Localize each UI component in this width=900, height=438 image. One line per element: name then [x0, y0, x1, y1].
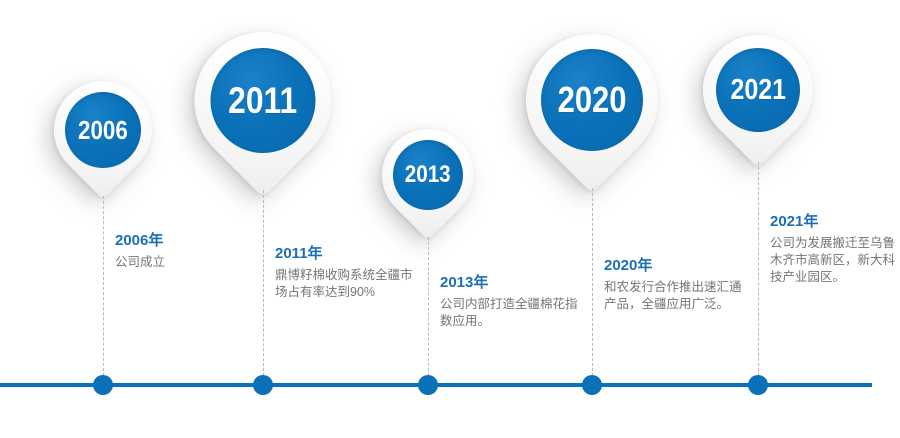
- timeline-pin-2020[interactable]: 2020: [526, 34, 658, 206]
- pin-year-badge: 2006: [65, 92, 141, 168]
- pin-year-label: 2006: [78, 117, 128, 143]
- timeline-entry-2013: 2013年公司内部打造全疆棉花指数应用。: [440, 273, 588, 330]
- pin-connector-line: [592, 188, 593, 376]
- entry-title: 2021年: [770, 212, 898, 232]
- entry-description: 和农发行合作推出速汇通产品，全疆应用广泛。: [604, 279, 752, 313]
- timeline-pin-2021[interactable]: 2021: [703, 35, 813, 178]
- pin-connector-line: [263, 190, 264, 376]
- axis-dot-2021[interactable]: [748, 375, 768, 395]
- entry-description: 公司为发展搬迁至乌鲁木齐市高新区，新大科技产业园区。: [770, 235, 898, 286]
- pin-connector-line: [103, 196, 104, 376]
- pin-connector-line: [758, 162, 759, 376]
- axis-dot-2011[interactable]: [253, 375, 273, 395]
- entry-description: 公司成立: [115, 254, 265, 271]
- timeline-pin-2006[interactable]: 2006: [54, 81, 152, 208]
- axis-dot-2020[interactable]: [582, 375, 602, 395]
- axis-dot-2013[interactable]: [418, 375, 438, 395]
- pin-year-badge: 2013: [393, 140, 463, 210]
- timeline-entry-2021: 2021年公司为发展搬迁至乌鲁木齐市高新区，新大科技产业园区。: [770, 212, 898, 286]
- pin-year-badge: 2020: [541, 49, 643, 151]
- axis-dot-2006[interactable]: [93, 375, 113, 395]
- pin-year-badge: 2021: [716, 48, 800, 132]
- entry-description: 鼎博籽棉收购系统全疆市场占有率达到90%: [275, 267, 423, 301]
- entry-title: 2020年: [604, 256, 752, 276]
- pin-year-label: 2021: [730, 76, 785, 105]
- entry-title: 2011年: [275, 244, 423, 264]
- pin-shape: 2020: [526, 34, 658, 206]
- pin-connector-line: [428, 237, 429, 376]
- timeline-entry-2006: 2006年公司成立: [115, 231, 265, 271]
- entry-description: 公司内部打造全疆棉花指数应用。: [440, 296, 588, 330]
- entry-title: 2006年: [115, 231, 265, 251]
- pin-year-label: 2011: [228, 82, 297, 119]
- pin-year-label: 2020: [558, 82, 627, 118]
- timeline-entry-2020: 2020年和农发行合作推出速汇通产品，全疆应用广泛。: [604, 256, 752, 313]
- pin-shape: 2021: [703, 35, 813, 178]
- entry-title: 2013年: [440, 273, 588, 293]
- timeline-infographic: 20062011201320202021 2006年公司成立2011年鼎博籽棉收…: [0, 0, 900, 438]
- timeline-entry-2011: 2011年鼎博籽棉收购系统全疆市场占有率达到90%: [275, 244, 423, 301]
- pin-shape: 2013: [382, 129, 474, 249]
- pin-shape: 2011: [195, 32, 332, 210]
- pin-shape: 2006: [54, 81, 152, 208]
- timeline-pin-2013[interactable]: 2013: [382, 129, 474, 249]
- pin-year-label: 2013: [405, 163, 451, 187]
- pin-year-badge: 2011: [211, 48, 316, 153]
- timeline-pin-2011[interactable]: 2011: [195, 32, 332, 210]
